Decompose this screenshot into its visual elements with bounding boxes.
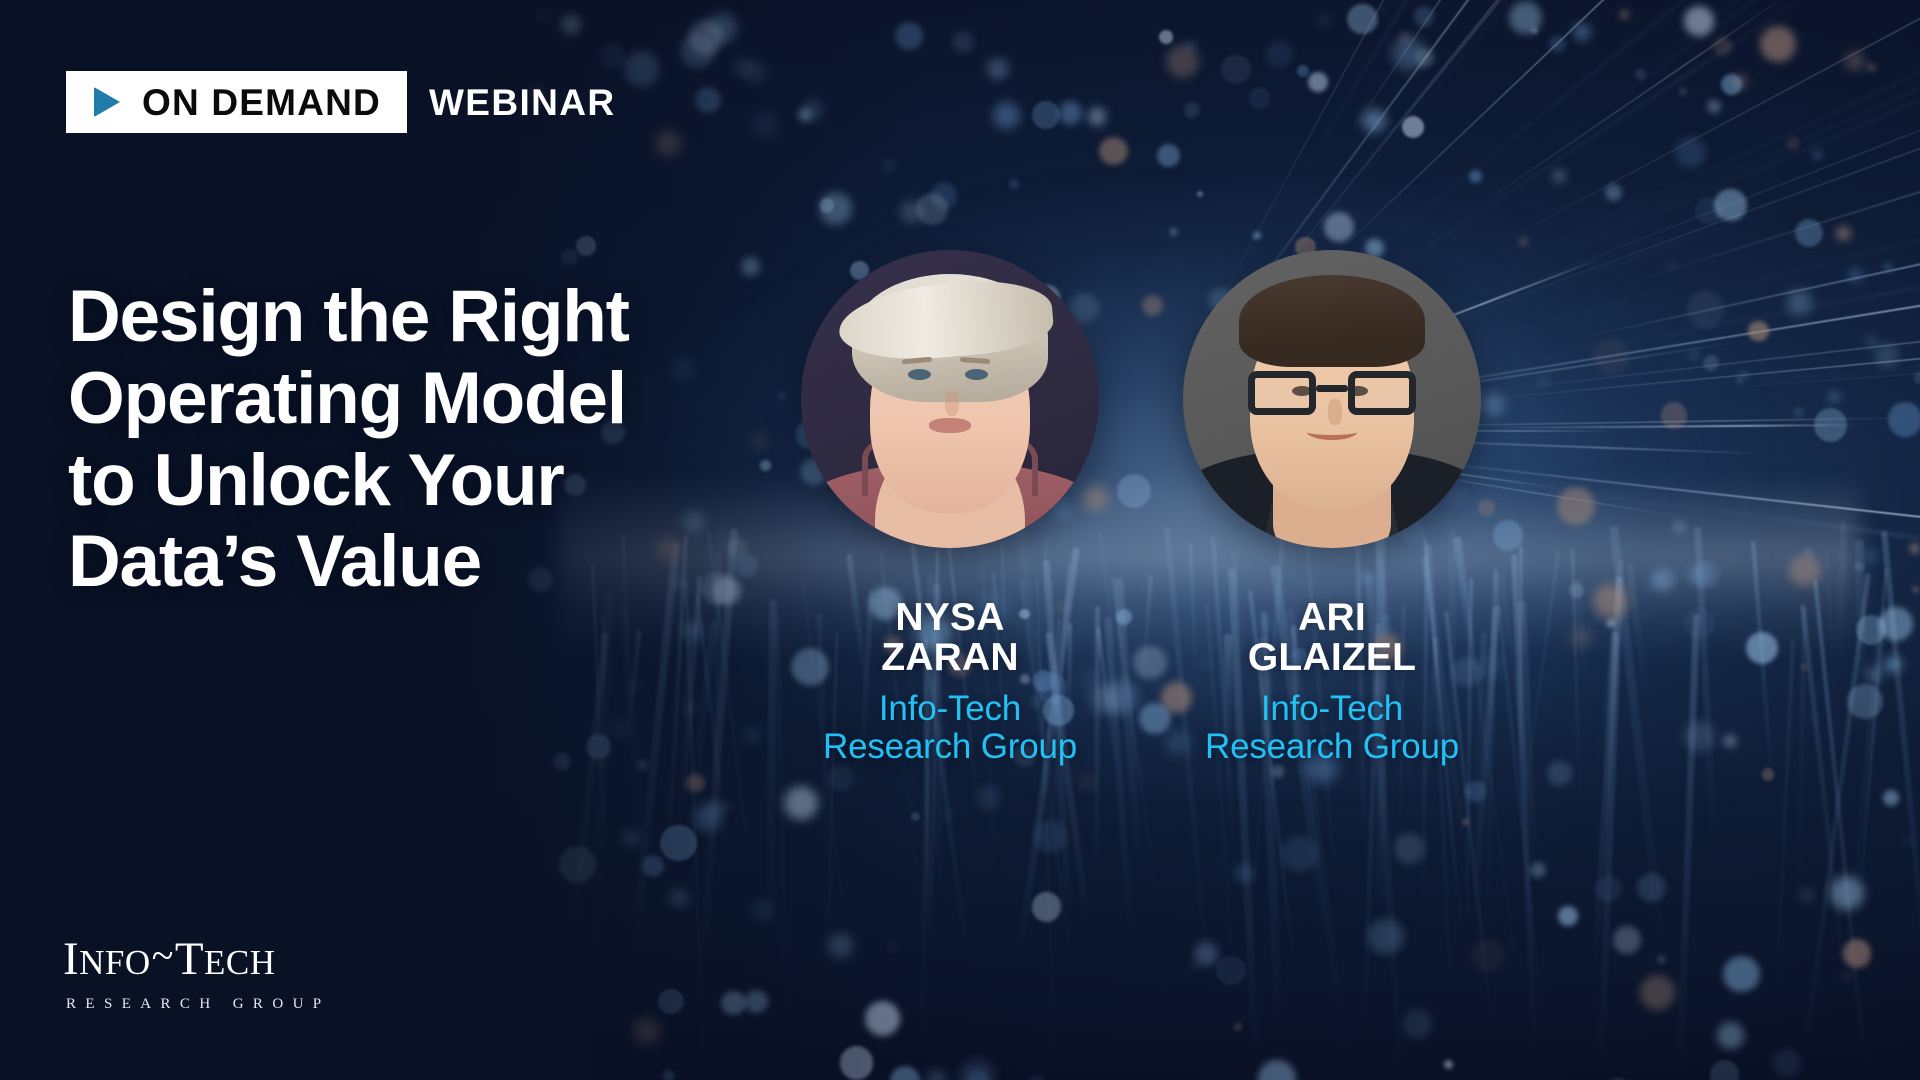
speaker-first-name: ARI	[1248, 598, 1416, 638]
logo-ech: ECH	[204, 943, 276, 982]
title-line-3: to Unlock Your	[68, 440, 858, 522]
avatar-nose	[1328, 399, 1342, 425]
logo-t: T	[175, 933, 204, 985]
glasses-bridge	[1316, 385, 1348, 392]
play-triangle-icon	[94, 87, 120, 117]
title-line-4: Data’s Value	[68, 521, 858, 603]
avatar-mouth	[929, 418, 971, 433]
speaker-organization: Info-Tech Research Group	[823, 690, 1077, 766]
speaker-org-line-2: Research Group	[1205, 728, 1459, 766]
speaker-first-name: NYSA	[881, 598, 1018, 638]
logo-tilde-icon: ~	[151, 933, 175, 978]
headshot-nysa-zaran	[801, 250, 1099, 548]
lens-right	[1348, 371, 1416, 415]
speaker-org-line-1: Info-Tech	[1205, 690, 1459, 728]
page-title: Design the Right Operating Model to Unlo…	[68, 276, 858, 603]
speaker-org-line-1: Info-Tech	[823, 690, 1077, 728]
logo-i: I	[63, 933, 79, 985]
lens-left	[1248, 371, 1316, 415]
speaker-last-name: ZARAN	[881, 638, 1018, 678]
speaker-org-line-2: Research Group	[823, 728, 1077, 766]
on-demand-webinar-badge: ON DEMAND WEBINAR	[66, 71, 616, 133]
logo-nfo: NFO	[79, 943, 151, 982]
speaker-organization: Info-Tech Research Group	[1205, 690, 1459, 766]
avatar-hair	[1239, 275, 1425, 367]
title-line-1: Design the Right	[68, 276, 858, 358]
logo-wordmark: INFO~TECH	[63, 936, 403, 983]
speaker-list: NYSA ZARAN Info-Tech Research Group	[800, 250, 1880, 766]
speaker-card-nysa-zaran: NYSA ZARAN Info-Tech Research Group	[800, 250, 1100, 766]
badge-box: ON DEMAND	[66, 71, 407, 133]
avatar-mouth	[1307, 424, 1357, 440]
speaker-name: ARI GLAIZEL	[1248, 598, 1416, 678]
speaker-name: NYSA ZARAN	[881, 598, 1018, 678]
title-line-2: Operating Model	[68, 358, 858, 440]
headshot-ari-glaizel	[1183, 250, 1481, 548]
badge-label: ON DEMAND	[142, 84, 381, 121]
speaker-card-ari-glaizel: ARI GLAIZEL Info-Tech Research Group	[1182, 250, 1482, 766]
badge-suffix: WEBINAR	[407, 71, 616, 133]
webinar-promo-banner: ON DEMAND WEBINAR Design the Right Opera…	[0, 0, 1920, 1080]
speaker-last-name: GLAIZEL	[1248, 638, 1416, 678]
info-tech-logo: INFO~TECH RESEARCH GROUP	[63, 936, 403, 1013]
avatar-nose	[945, 390, 959, 416]
logo-tagline: RESEARCH GROUP	[63, 996, 403, 1013]
